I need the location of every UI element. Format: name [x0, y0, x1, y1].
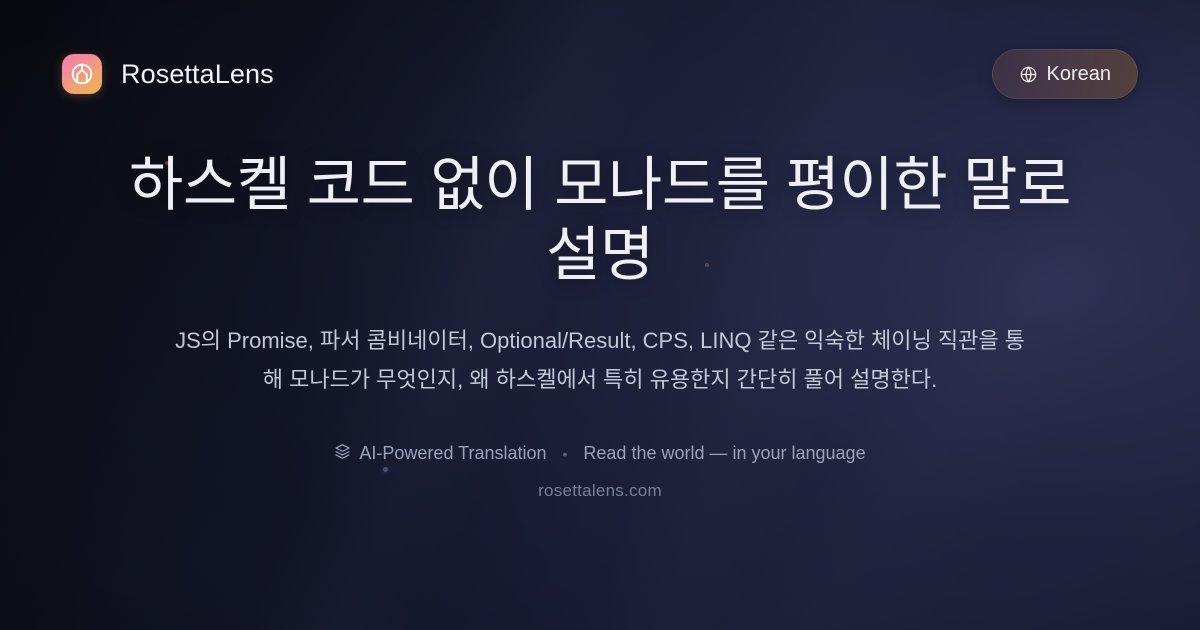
globe-icon — [1019, 65, 1038, 84]
brand[interactable]: RosettaLens — [62, 54, 274, 94]
article-description: JS의 Promise, 파서 콤비네이터, Optional/Result, … — [168, 322, 1033, 399]
meta-row: AI-Powered Translation • Read the world … — [334, 443, 865, 465]
brand-name: RosettaLens — [121, 59, 274, 90]
og-card: RosettaLens Korean 하스켈 코드 없이 모나드를 평이한 말로… — [0, 0, 1200, 630]
header: RosettaLens Korean — [0, 0, 1200, 148]
globe-logo-icon — [62, 54, 102, 94]
layers-icon — [334, 443, 351, 465]
site-url: rosettalens.com — [538, 481, 662, 501]
tagline: Read the world — in your language — [583, 443, 865, 464]
language-badge[interactable]: Korean — [992, 49, 1139, 99]
language-badge-label: Korean — [1047, 63, 1112, 86]
ai-translation-label: AI-Powered Translation — [359, 443, 546, 464]
ai-translation-badge: AI-Powered Translation — [334, 443, 546, 465]
main-content: 하스켈 코드 없이 모나드를 평이한 말로 설명 JS의 Promise, 파서… — [0, 150, 1200, 501]
meta-separator: • — [563, 447, 568, 461]
page-title: 하스켈 코드 없이 모나드를 평이한 말로 설명 — [110, 150, 1090, 290]
